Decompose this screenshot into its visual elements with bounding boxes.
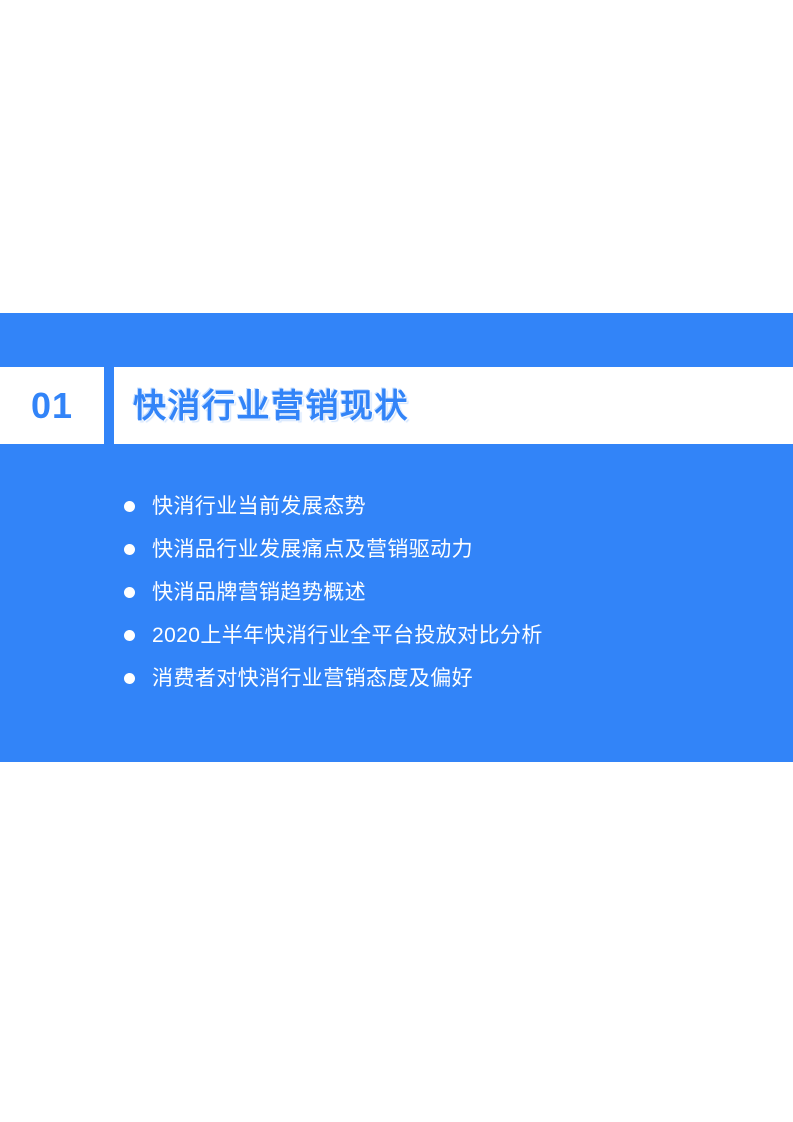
list-item: 快消行业当前发展态势 xyxy=(124,485,543,528)
list-item: 2020上半年快消行业全平台投放对比分析 xyxy=(124,614,543,657)
section-title: 快消行业营销现状 xyxy=(114,389,409,422)
section-number: 01 xyxy=(0,388,104,424)
title-divider xyxy=(104,367,114,444)
list-item-label: 2020上半年快消行业全平台投放对比分析 xyxy=(135,625,543,646)
list-item-label: 消费者对快消行业营销态度及偏好 xyxy=(135,668,473,689)
bullet-dot-icon xyxy=(124,587,135,598)
bullet-dot-icon xyxy=(124,544,135,555)
list-item: 快消品行业发展痛点及营销驱动力 xyxy=(124,528,543,571)
section-title-band: 01 快消行业营销现状 xyxy=(0,367,793,444)
bullet-dot-icon xyxy=(124,501,135,512)
slide-page: 01 快消行业营销现状 快消行业当前发展态势 快消品行业发展痛点及营销驱动力 快… xyxy=(0,0,793,1122)
list-item: 快消品牌营销趋势概述 xyxy=(124,571,543,614)
bullet-dot-icon xyxy=(124,673,135,684)
list-item: 消费者对快消行业营销态度及偏好 xyxy=(124,657,543,700)
bullet-dot-icon xyxy=(124,630,135,641)
list-item-label: 快消行业当前发展态势 xyxy=(135,496,366,517)
section-divider-panel: 01 快消行业营销现状 快消行业当前发展态势 快消品行业发展痛点及营销驱动力 快… xyxy=(0,313,793,762)
list-item-label: 快消品行业发展痛点及营销驱动力 xyxy=(135,539,473,560)
section-bullet-list: 快消行业当前发展态势 快消品行业发展痛点及营销驱动力 快消品牌营销趋势概述 20… xyxy=(124,485,543,700)
list-item-label: 快消品牌营销趋势概述 xyxy=(135,582,366,603)
